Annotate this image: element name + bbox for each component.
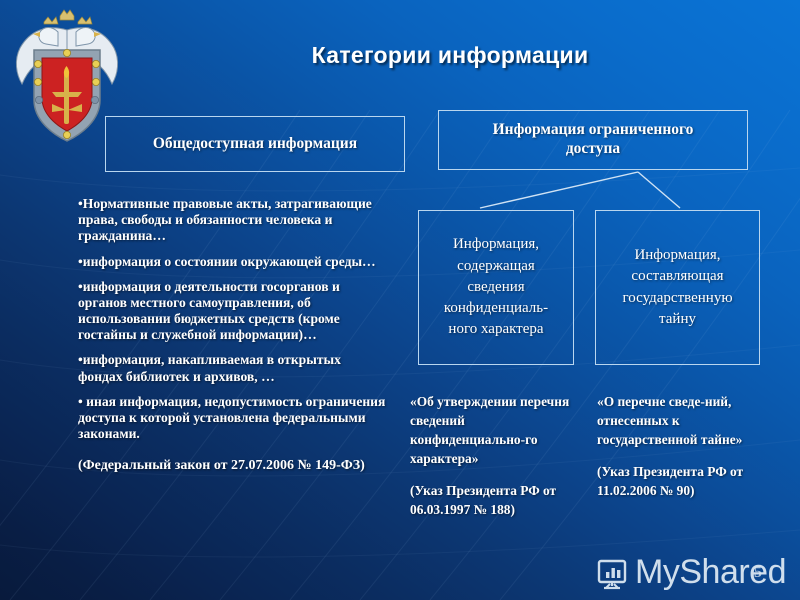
watermark-label: MyShared [635,553,786,592]
box-confidential-information-label: Информация, содержащая сведения конфиден… [444,234,548,340]
state-secret-note-source: (Указ Президента РФ от 11.02.2006 № 90) [597,462,777,500]
list-item: •информация о состоянии окружающей среды… [78,254,386,270]
presentation-chart-icon [595,556,629,590]
confidential-note: «Об утверждении перечня сведений конфиде… [410,392,582,519]
box-restricted-information-label: Информация ограниченного доступа [493,121,694,158]
presentation-slide: Категории информации Общедоступная инфор… [0,0,800,600]
public-information-list: •Нормативные правовые акты, затрагивающи… [78,196,386,484]
list-item: •Нормативные правовые акты, затрагивающи… [78,196,386,245]
list-item: •информация, накапливаемая в открытых фо… [78,352,386,384]
page-title: Категории информации [120,42,780,69]
box-confidential-information: Информация, содержащая сведения конфиден… [418,210,574,365]
box-restricted-information: Информация ограниченного доступа [438,110,748,170]
box-state-secret-information-label: Информация, составляющая государственную… [622,245,732,330]
confidential-note-source: (Указ Президента РФ от 06.03.1997 № 188) [410,481,582,519]
box-public-information-label: Общедоступная информация [153,135,357,153]
box-public-information: Общедоступная информация [105,116,405,172]
list-item: •информация о деятельности госорганов и … [78,279,386,344]
state-secret-note: «О перечне сведе-ний, отнесенных к госуд… [597,392,777,500]
list-item: • иная информация, недопустимость ограни… [78,394,386,443]
box-state-secret-information: Информация, составляющая государственную… [595,210,760,365]
confidential-note-title: «Об утверждении перечня сведений конфиде… [410,392,582,468]
public-information-law-reference: (Федеральный закон от 27.07.2006 № 149-Ф… [78,458,386,475]
state-secret-note-title: «О перечне сведе-ний, отнесенных к госуд… [597,392,777,449]
watermark: MyShared [595,553,786,592]
